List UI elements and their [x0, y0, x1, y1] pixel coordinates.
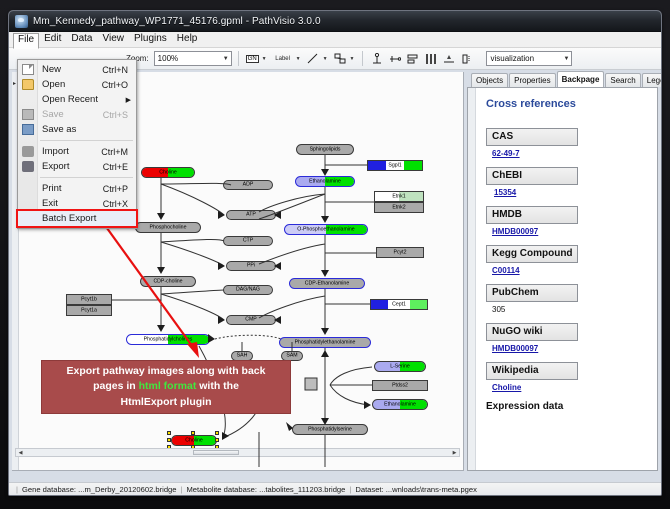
file-menu-new-accel: Ctrl+N — [102, 65, 128, 75]
gene-dropdown-arrow[interactable]: ▼ — [262, 56, 267, 62]
xref-db-label: ChEBI — [486, 167, 578, 185]
file-menu-divider-2 — [40, 177, 133, 178]
file-menu-open-accel: Ctrl+O — [102, 80, 128, 90]
xref-value[interactable]: 62-49-7 — [486, 146, 649, 158]
pathvisio-icon — [15, 15, 28, 28]
sgpl1-green-half — [404, 161, 422, 170]
order-button[interactable] — [459, 51, 474, 67]
align-icon — [407, 53, 419, 65]
file-menu-export-label: Export — [42, 161, 69, 172]
new-document-icon — [22, 64, 34, 75]
tab-objects[interactable]: Objects — [471, 73, 508, 87]
xref-nugo-wiki: NuGO wiki HMDB00097 — [486, 323, 649, 353]
status-bar: | Gene database: ...m_Derby_20120602.bri… — [9, 482, 661, 495]
file-menu-print-label: Print — [42, 183, 62, 194]
file-menu-print-accel: Ctrl+P — [103, 184, 128, 194]
zoom-combobox[interactable]: 100% ▼ — [154, 51, 232, 66]
status-metabolite-database: Metabolite database: ...tabolites_111203… — [186, 485, 345, 494]
chevron-down-icon: ▼ — [223, 56, 229, 62]
file-menu-batch-export-label: Batch Export — [42, 213, 96, 224]
node-cdp-choline[interactable]: CDP-choline — [140, 276, 196, 287]
node-phosphatidylcholines[interactable]: Phosphatidylcholines — [126, 334, 210, 345]
file-menu-export-accel: Ctrl+E — [103, 162, 128, 172]
node-ethanolamine-top[interactable]: Ethanolamine — [295, 176, 355, 187]
status-dataset: Dataset: ...wnloads\trans-meta.pgex — [355, 485, 477, 494]
line-icon — [307, 53, 319, 65]
import-icon — [22, 146, 34, 157]
side-panel: Objects Properties Backpage Search Legen… — [467, 72, 658, 471]
xref-value[interactable]: HMDB00097 — [486, 224, 649, 236]
file-menu-divider-1 — [40, 140, 133, 141]
interaction-icon — [389, 53, 401, 65]
tab-search[interactable]: Search — [605, 73, 640, 87]
menu-file[interactable]: File — [13, 33, 39, 49]
xref-link[interactable]: 15354 — [494, 188, 516, 197]
callout-line2-highlight: html format — [139, 380, 197, 392]
anchor-icon — [371, 53, 383, 65]
node-label: CTP — [224, 238, 272, 243]
xref-value[interactable]: C00114 — [486, 263, 649, 275]
menu-view[interactable]: View — [97, 32, 129, 47]
toolbar-divider — [238, 51, 239, 66]
open-folder-icon — [22, 79, 34, 90]
handle-ne[interactable] — [215, 431, 219, 435]
choline-bottom-red-half — [172, 436, 194, 445]
expression-data-heading: Expression data — [486, 401, 649, 412]
xref-link[interactable]: C00114 — [492, 266, 520, 275]
order-icon — [461, 53, 473, 65]
xref-value[interactable]: 15354 — [486, 185, 649, 197]
xref-db-label: PubChem — [486, 284, 578, 302]
export-icon — [22, 161, 34, 172]
node-ppi[interactable]: PPi — [226, 261, 276, 271]
etn-green-half — [325, 177, 354, 186]
xref-link[interactable]: HMDB00097 — [492, 227, 538, 236]
annotation-callout: Export pathway images along with back pa… — [41, 360, 291, 414]
node-ptdss2[interactable]: Ptdss2 — [372, 380, 428, 391]
xref-db-label: NuGO wiki — [486, 323, 578, 341]
etnk1-green-half — [399, 192, 423, 201]
xref-value: 305 — [486, 302, 649, 314]
file-menu-import-accel: Ctrl+M — [101, 147, 128, 157]
node-cmp[interactable]: CMP — [226, 315, 276, 325]
node-label: CMP — [227, 317, 275, 322]
gene-icon: GN — [246, 55, 259, 63]
xref-db-label: HMDB — [486, 206, 578, 224]
status-divider-0: | — [16, 485, 18, 494]
canvas-horizontal-scrollbar[interactable]: ◀ ▶ — [15, 448, 460, 457]
node-label: Etnk2 — [375, 205, 423, 210]
node-label: ATP — [227, 212, 275, 217]
handle-w[interactable] — [167, 438, 171, 442]
lserine-green-half — [400, 362, 425, 371]
scroll-right-arrow-icon[interactable]: ▶ — [450, 450, 459, 456]
callout-line1: Export pathway images along with back — [67, 365, 266, 377]
file-menu-exit[interactable]: Exit Ctrl+X — [18, 196, 136, 211]
menu-help[interactable]: Help — [172, 32, 203, 47]
cept1-blue-half — [371, 300, 388, 309]
callout-line2-b: with the — [196, 380, 239, 392]
backpage-panel: Cross references CAS 62-49-7 ChEBI 15354… — [467, 87, 658, 471]
anchor-button[interactable] — [369, 51, 384, 67]
file-menu-new[interactable]: New Ctrl+N — [18, 62, 136, 77]
node-pcyt1a[interactable]: Pcyt1a — [66, 305, 112, 316]
file-menu-export[interactable]: Export Ctrl+E — [18, 159, 136, 174]
file-menu-save: Save Ctrl+S — [18, 107, 136, 122]
file-menu-open-recent[interactable]: Open Recent ▶ — [18, 92, 136, 107]
node-etnk2[interactable]: Etnk2 — [374, 202, 424, 213]
align-button[interactable] — [405, 51, 420, 67]
xref-chebi: ChEBI 15354 — [486, 167, 649, 197]
visualization-combobox[interactable]: visualization ▼ — [486, 51, 572, 66]
callout-line3: HtmlExport plugin — [121, 396, 212, 408]
node-label: Ptdss2 — [373, 383, 427, 388]
node-label: CDP-choline — [141, 279, 195, 284]
file-menu-popup[interactable]: New Ctrl+N Open Ctrl+O Open Recent ▶ Sav… — [17, 59, 137, 229]
node-label: Pcyt1b — [67, 297, 111, 302]
stack-button[interactable] — [441, 51, 456, 67]
node-ethanolamine-right[interactable]: Ethanolamine — [372, 399, 428, 410]
menu-edit[interactable]: Edit — [39, 32, 66, 47]
menu-plugins[interactable]: Plugins — [129, 32, 172, 47]
file-menu-new-label: New — [42, 64, 61, 75]
screen-root: Mm_Kennedy_pathway_WP1771_45176.gpml - P… — [0, 0, 670, 509]
title-bar: Mm_Kennedy_pathway_WP1771_45176.gpml - P… — [9, 11, 661, 32]
node-label: PPi — [227, 263, 275, 268]
xref-db-label: Wikipedia — [486, 362, 578, 380]
menu-bar: File Edit Data View Plugins Help — [9, 32, 661, 48]
xref-db-label: CAS — [486, 128, 578, 146]
xref-cas: CAS 62-49-7 — [486, 128, 649, 158]
node-ctp[interactable]: CTP — [223, 236, 273, 246]
node-pcyt2[interactable]: Pcyt2 — [376, 247, 424, 258]
file-menu-batch-export[interactable]: Batch Export — [18, 211, 136, 226]
xref-wikipedia: Wikipedia Choline — [486, 362, 649, 392]
canvas-scroll-arrow-icon[interactable]: ▸ — [13, 80, 16, 87]
etn-right-green-half — [400, 400, 427, 409]
xref-pubchem: PubChem 305 — [486, 284, 649, 314]
pc-green-half — [168, 335, 209, 344]
distribute-icon — [425, 53, 437, 65]
node-label: SAM — [282, 353, 302, 358]
line-dropdown-arrow[interactable]: ▼ — [323, 56, 328, 62]
file-menu-save-accel: Ctrl+S — [103, 110, 128, 120]
shape-dropdown-arrow[interactable]: ▼ — [350, 56, 355, 62]
file-menu-open-label: Open — [42, 79, 65, 90]
application-window: Mm_Kennedy_pathway_WP1771_45176.gpml - P… — [8, 10, 662, 496]
choline-top-red-half — [142, 168, 168, 177]
node-o-phosphoethanolamine[interactable]: O-Phosphoethanolamine — [284, 224, 368, 235]
xref-hmdb: HMDB HMDB00097 — [486, 206, 649, 236]
file-menu-open[interactable]: Open Ctrl+O — [18, 77, 136, 92]
save-as-icon — [22, 124, 34, 135]
xref-link[interactable]: Choline — [492, 383, 521, 392]
file-menu-save-label: Save — [42, 109, 64, 120]
node-cept1[interactable]: Cept1 — [370, 299, 428, 310]
choline-top-green-half — [168, 168, 194, 177]
node-phosphocholine[interactable]: Phosphocholine — [135, 222, 201, 233]
label-button[interactable]: Label — [272, 51, 294, 67]
node-sphingolipids[interactable]: Sphingolipids — [296, 144, 354, 155]
scroll-left-arrow-icon[interactable]: ◀ — [16, 450, 25, 456]
node-l-serine[interactable]: L-Serine — [374, 361, 426, 372]
save-disk-icon — [22, 109, 34, 120]
gene-product-button[interactable]: GN — [245, 51, 260, 67]
node-sgpl1[interactable]: Sgpl1 — [367, 160, 423, 171]
ope-green-half — [326, 225, 367, 234]
scrollbar-thumb[interactable] — [193, 450, 239, 455]
stack-icon — [443, 53, 455, 65]
handle-e[interactable] — [215, 438, 219, 442]
node-label: CDP-Ethanolamine — [290, 281, 364, 286]
node-label: Phosphatidylethanolamine — [280, 340, 370, 345]
xref-db-label: Kegg Compound — [486, 245, 578, 263]
choline-bottom-green-half — [194, 436, 216, 445]
xref-kegg-compound: Kegg Compound C00114 — [486, 245, 649, 275]
file-menu-open-recent-label: Open Recent — [42, 94, 98, 105]
file-menu-exit-accel: Ctrl+X — [103, 199, 128, 209]
side-panel-tabs: Objects Properties Backpage Search Legen… — [467, 72, 658, 87]
callout-line2-a: pages in — [93, 380, 139, 392]
handle-nw[interactable] — [167, 431, 171, 435]
node-adp[interactable]: ADP — [223, 180, 273, 190]
xref-link[interactable]: 62-49-7 — [492, 149, 520, 158]
cross-references-heading: Cross references — [486, 98, 649, 110]
node-label: ADP — [224, 182, 272, 187]
node-atp[interactable]: ATP — [226, 210, 276, 220]
node-label: Phosphocholine — [136, 225, 200, 230]
label-dropdown-arrow[interactable]: ▼ — [296, 56, 301, 62]
status-divider-1: | — [181, 485, 183, 494]
node-phosphatidylserine[interactable]: Phosphatidylserine — [292, 424, 368, 435]
label-button-text: Label — [275, 56, 290, 62]
handle-n[interactable] — [191, 431, 195, 435]
xref-value[interactable]: HMDB00097 — [486, 341, 649, 353]
node-etnk1[interactable]: Etnk1 — [374, 191, 424, 202]
node-label: Pcyt1a — [67, 308, 111, 313]
status-gene-database: Gene database: ...m_Derby_20120602.bridg… — [22, 485, 177, 494]
node-phosphatidylethanolamine[interactable]: Phosphatidylethanolamine — [279, 337, 371, 348]
node-label: SAH — [232, 353, 252, 358]
shape-tool-button[interactable] — [333, 51, 348, 67]
visualization-value: visualization — [490, 54, 534, 63]
tab-backpage[interactable]: Backpage — [557, 71, 605, 87]
toolbar-divider-2 — [362, 51, 363, 66]
menu-data[interactable]: Data — [66, 32, 97, 47]
status-divider-2: | — [349, 485, 351, 494]
distribute-button[interactable] — [423, 51, 438, 67]
interaction-button[interactable] — [387, 51, 402, 67]
tab-properties[interactable]: Properties — [509, 73, 555, 87]
file-menu-import-label: Import — [42, 146, 69, 157]
backpage-content: Cross references CAS 62-49-7 ChEBI 15354… — [476, 88, 657, 470]
window-title: Mm_Kennedy_pathway_WP1771_45176.gpml - P… — [33, 16, 321, 27]
node-cdp-ethanolamine[interactable]: CDP-Ethanolamine — [289, 278, 365, 289]
cept1-green-half — [410, 300, 427, 309]
file-menu-import[interactable]: Import Ctrl+M — [18, 144, 136, 159]
chevron-down-icon-2: ▼ — [564, 56, 570, 62]
node-dag-nag[interactable]: DAG/NAG — [223, 285, 273, 295]
file-menu-save-as-label: Save as — [42, 124, 76, 135]
zoom-value: 100% — [158, 54, 178, 63]
node-choline-top[interactable]: Choline — [141, 167, 195, 178]
node-label: Phosphatidylserine — [293, 427, 367, 432]
line-tool-button[interactable] — [306, 51, 321, 67]
tab-legend[interactable]: Legend — [642, 73, 662, 87]
node-label: DAG/NAG — [224, 287, 272, 292]
chevron-right-icon: ▶ — [126, 96, 131, 104]
node-pcyt1b[interactable]: Pcyt1b — [66, 294, 112, 305]
file-menu-exit-label: Exit — [42, 198, 58, 209]
sgpl1-blue-half — [368, 161, 386, 170]
node-label: Pcyt2 — [377, 250, 423, 255]
node-label: Sphingolipids — [297, 147, 353, 152]
backpage-left-strip — [468, 88, 476, 470]
shape-icon — [334, 53, 346, 65]
xref-value[interactable]: Choline — [486, 380, 649, 392]
xref-link[interactable]: HMDB00097 — [492, 344, 538, 353]
file-menu-print[interactable]: Print Ctrl+P — [18, 181, 136, 196]
file-menu-save-as[interactable]: Save as — [18, 122, 136, 137]
